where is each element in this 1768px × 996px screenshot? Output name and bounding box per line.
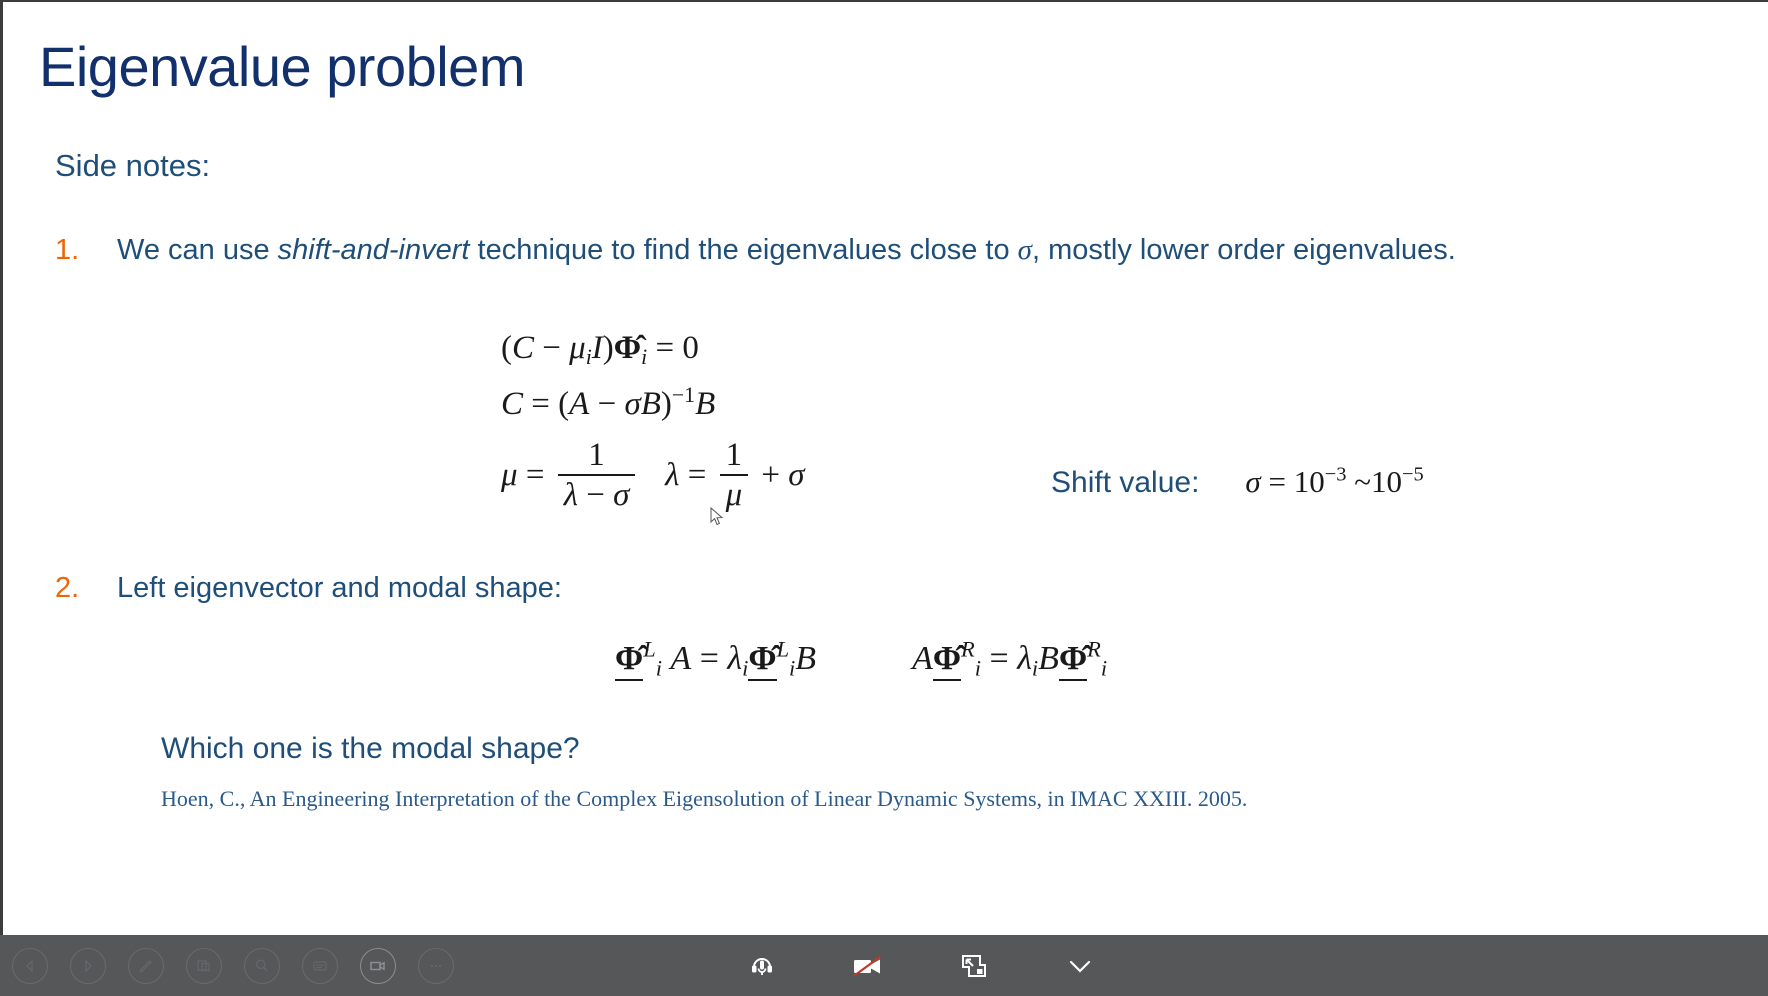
list-item-number: 2. bbox=[55, 572, 117, 605]
presentation-window: Eigenvalue problem Side notes: 1. We can… bbox=[0, 0, 1768, 996]
shift-value-label: Shift value: bbox=[1051, 466, 1199, 500]
equation-block-eigenvectors: Φ̂Li A = λiΦ̂LiB AΦ̂Ri = λiBΦ̂Ri bbox=[615, 640, 1107, 681]
question-text: Which one is the modal shape? bbox=[161, 732, 580, 766]
next-slide-icon[interactable] bbox=[70, 948, 106, 984]
phi-hat-underlined: Φ̂ bbox=[1059, 640, 1087, 681]
list-item: 2. Left eigenvector and modal shape: bbox=[55, 572, 562, 605]
presentation-toolbar bbox=[0, 935, 1768, 996]
list-item-number: 1. bbox=[55, 234, 117, 267]
video-icon[interactable] bbox=[360, 948, 396, 984]
previous-slide-icon[interactable] bbox=[12, 948, 48, 984]
equation-right-eigenvector: AΦ̂Ri = λiBΦ̂Ri bbox=[912, 640, 1107, 681]
emphasis-text: shift-and-invert bbox=[278, 234, 470, 266]
citation-reference: Hoen, C., An Engineering Interpretation … bbox=[161, 786, 1247, 812]
fraction-lambda: 1 μ bbox=[720, 438, 749, 513]
fraction-mu: 1 λ − σ bbox=[558, 438, 636, 513]
equation-line-2: C = (A − σB)−1B bbox=[501, 376, 805, 432]
subtitles-icon[interactable] bbox=[302, 948, 338, 984]
phi-hat-underlined: Φ̂ bbox=[615, 640, 643, 681]
screen-share-icon[interactable] bbox=[952, 946, 996, 986]
list-item-label: We can use shift-and-invert technique to… bbox=[117, 234, 1456, 267]
phi-hat: Φ̂ bbox=[614, 330, 641, 366]
more-options-icon[interactable] bbox=[418, 948, 454, 984]
list-item: 1. We can use shift-and-invert technique… bbox=[55, 234, 1456, 267]
toolbar-left-group bbox=[0, 948, 454, 984]
subheading: Side notes: bbox=[55, 148, 210, 184]
shift-value-expression: σ = 10−3 ~10−5 bbox=[1245, 464, 1423, 500]
shift-value-note: Shift value: σ = 10−3 ~10−5 bbox=[1051, 464, 1424, 500]
page-title: Eigenvalue problem bbox=[39, 38, 525, 97]
camera-off-icon[interactable] bbox=[846, 946, 890, 986]
equation-line-1: (C − μiI)Φ̂i = 0 bbox=[501, 320, 805, 376]
equation-left-eigenvector: Φ̂Li A = λiΦ̂LiB bbox=[615, 640, 816, 681]
zoom-icon[interactable] bbox=[244, 948, 280, 984]
list-item-label: Left eigenvector and modal shape: bbox=[117, 572, 562, 605]
toolbar-center-group bbox=[740, 946, 1102, 986]
equation-block-shift-invert: (C − μiI)Φ̂i = 0 C = (A − σB)−1B μ = 1 λ… bbox=[501, 320, 805, 518]
layout-icon[interactable] bbox=[186, 948, 222, 984]
slide-canvas: Eigenvalue problem Side notes: 1. We can… bbox=[0, 0, 1768, 935]
pen-icon[interactable] bbox=[128, 948, 164, 984]
headset-audio-icon[interactable] bbox=[740, 946, 784, 986]
phi-hat-underlined: Φ̂ bbox=[933, 640, 961, 681]
phi-hat-underlined: Φ̂ bbox=[748, 640, 776, 681]
chevron-down-icon[interactable] bbox=[1058, 946, 1102, 986]
equation-line-3: μ = 1 λ − σ λ = 1 μ + σ bbox=[501, 432, 805, 518]
sigma-symbol: σ bbox=[1018, 234, 1032, 266]
